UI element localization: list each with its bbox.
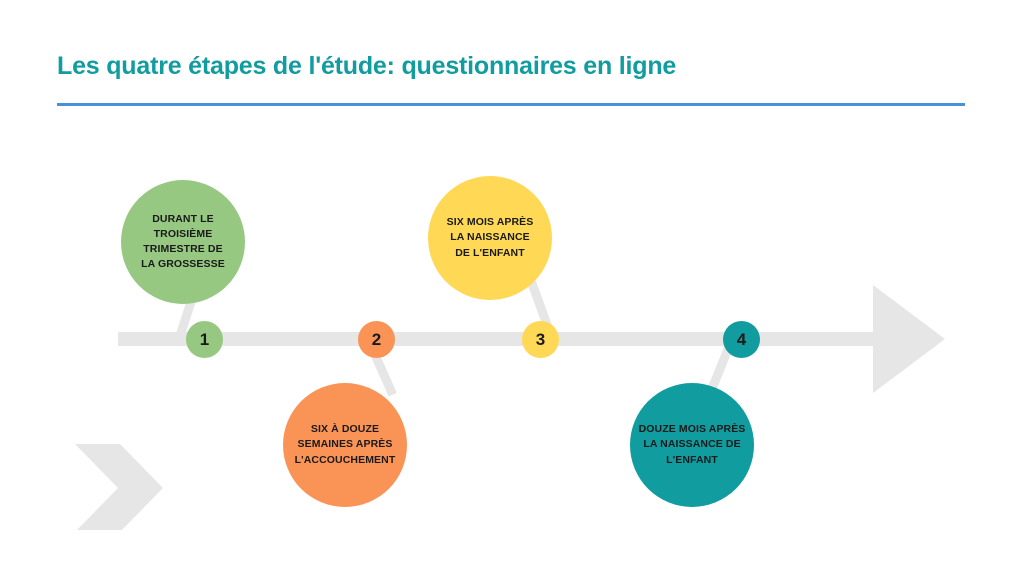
step-marker-1[interactable]: 1	[186, 321, 223, 358]
step-marker-3[interactable]: 3	[522, 321, 559, 358]
step-bubble-3[interactable]: SIX MOIS APRÈS LA NAISSANCE DE L'ENFANT	[428, 176, 552, 300]
step-bubble-label-4: DOUZE MOIS APRÈS LA NAISSANCE DE L'ENFAN…	[639, 422, 746, 468]
arrow-shaft	[118, 332, 878, 346]
step-marker-number-2: 2	[372, 330, 381, 350]
arrow-tail-chevron	[75, 444, 163, 530]
title-divider	[57, 103, 965, 106]
step-bubble-label-2: SIX À DOUZE SEMAINES APRÈS L'ACCOUCHEMEN…	[295, 422, 396, 468]
slide-canvas: Les quatre étapes de l'étude: questionna…	[0, 0, 1024, 576]
step-marker-number-1: 1	[200, 330, 209, 350]
arrow-head	[873, 285, 945, 393]
step-bubble-4[interactable]: DOUZE MOIS APRÈS LA NAISSANCE DE L'ENFAN…	[630, 383, 754, 507]
step-marker-2[interactable]: 2	[358, 321, 395, 358]
step-bubble-1[interactable]: DURANT LE TROISIÈME TRIMESTRE DE LA GROS…	[121, 180, 245, 304]
step-bubble-label-1: DURANT LE TROISIÈME TRIMESTRE DE LA GROS…	[141, 212, 225, 273]
step-marker-number-3: 3	[536, 330, 545, 350]
step-bubble-label-3: SIX MOIS APRÈS LA NAISSANCE DE L'ENFANT	[447, 215, 534, 261]
step-bubble-2[interactable]: SIX À DOUZE SEMAINES APRÈS L'ACCOUCHEMEN…	[283, 383, 407, 507]
step-marker-4[interactable]: 4	[723, 321, 760, 358]
step-marker-number-4: 4	[737, 330, 746, 350]
page-title: Les quatre étapes de l'étude: questionna…	[57, 52, 676, 81]
